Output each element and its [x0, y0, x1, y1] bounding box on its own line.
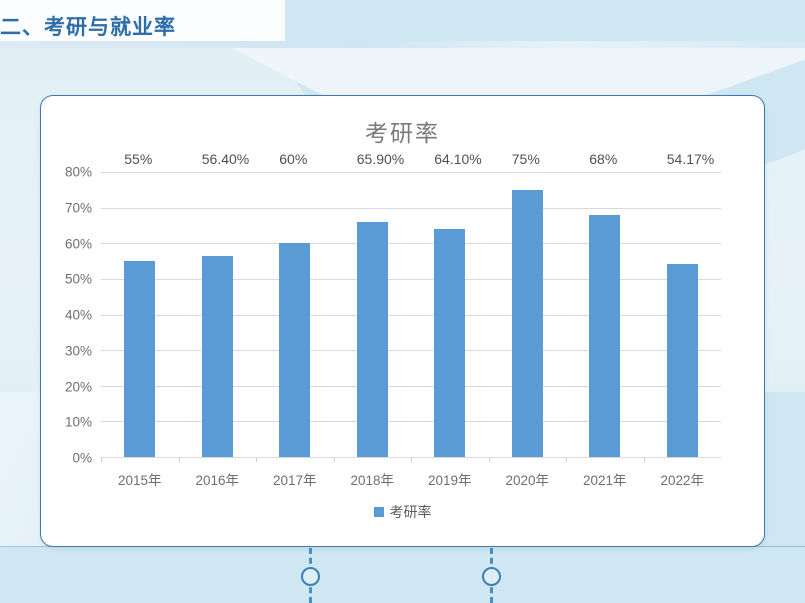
bar-2022年[interactable]: 54.17%: [667, 264, 698, 457]
bar-data-label: 65.90%: [357, 151, 404, 167]
bar-data-label: 60%: [279, 151, 307, 167]
chart-category-slot: 64.10%2019年: [411, 172, 489, 457]
chart-category-slot: 60%2017年: [256, 172, 334, 457]
background-header-band: [0, 41, 805, 48]
legend-label: 考研率: [390, 502, 432, 522]
chart-legend[interactable]: 考研率: [41, 502, 764, 522]
bar-2015年[interactable]: 55%: [124, 261, 155, 457]
chart-category-slot: 55%2015年: [101, 172, 179, 457]
x-axis-tick-label: 2017年: [273, 469, 317, 489]
bar-data-label: 75%: [512, 151, 540, 167]
chart-category-slot: 75%2020年: [489, 172, 567, 457]
bar-2018年[interactable]: 65.90%: [357, 222, 388, 457]
y-axis-tick-label: 0%: [72, 451, 92, 466]
bar-2021年[interactable]: 68%: [589, 215, 620, 457]
chart-card: 考研率 80%70%60%50%40%30%20%10%0% 55%2015年5…: [40, 95, 765, 547]
background-bottom-strip: [0, 547, 805, 603]
chart-bars: 55%2015年56.40%2016年60%2017年65.90%2018年64…: [101, 172, 721, 457]
slide-canvas: 二、考研与就业率 考研率 80%70%60%50%40%30%20%10%0% …: [0, 0, 805, 603]
y-axis-tick-label: 20%: [65, 379, 92, 394]
bar-data-label: 56.40%: [202, 151, 249, 167]
y-axis-tick-label: 40%: [65, 308, 92, 323]
x-axis-tick-mark: [101, 457, 102, 462]
bar-2019年[interactable]: 64.10%: [434, 229, 465, 457]
y-axis-tick-label: 70%: [65, 200, 92, 215]
bar-2020年[interactable]: 75%: [512, 190, 543, 457]
x-axis-tick-label: 2015年: [118, 469, 162, 489]
x-axis-tick-label: 2021年: [583, 469, 627, 489]
x-axis-tick-mark: [179, 457, 180, 462]
chart-category-slot: 68%2021年: [566, 172, 644, 457]
x-axis-tick-label: 2019年: [428, 469, 472, 489]
bar-data-label: 54.17%: [667, 151, 714, 167]
bar-data-label: 64.10%: [434, 151, 481, 167]
y-axis-tick-label: 60%: [65, 236, 92, 251]
bar-data-label: 68%: [589, 151, 617, 167]
chart-category-slot: 54.17%2022年: [644, 172, 722, 457]
chart-plot-area: 80%70%60%50%40%30%20%10%0% 55%2015年56.40…: [101, 172, 721, 457]
y-axis-tick-label: 50%: [65, 272, 92, 287]
x-axis-tick-mark: [334, 457, 335, 462]
x-axis-tick-label: 2016年: [195, 469, 239, 489]
timeline-marker-dot-2[interactable]: [482, 567, 501, 586]
bar-2017年[interactable]: 60%: [279, 243, 310, 457]
bar-data-label: 55%: [124, 151, 152, 167]
chart-title: 考研率: [41, 114, 764, 148]
chart-category-slot: 56.40%2016年: [179, 172, 257, 457]
timeline-marker-dot-1[interactable]: [301, 567, 320, 586]
x-axis-tick-label: 2018年: [350, 469, 394, 489]
x-axis-tick-mark: [411, 457, 412, 462]
x-axis-tick-label: 2022年: [660, 469, 704, 489]
page-title: 二、考研与就业率: [0, 11, 176, 41]
y-axis-tick-label: 10%: [65, 415, 92, 430]
bar-2016年[interactable]: 56.40%: [202, 256, 233, 457]
x-axis-tick-label: 2020年: [505, 469, 549, 489]
chart-category-slot: 65.90%2018年: [334, 172, 412, 457]
x-axis-tick-mark: [489, 457, 490, 462]
y-axis-tick-label: 80%: [65, 165, 92, 180]
x-axis-tick-mark: [644, 457, 645, 462]
x-axis-tick-mark: [256, 457, 257, 462]
y-axis-tick-label: 30%: [65, 343, 92, 358]
legend-swatch-icon: [374, 507, 384, 517]
x-axis-tick-mark: [566, 457, 567, 462]
